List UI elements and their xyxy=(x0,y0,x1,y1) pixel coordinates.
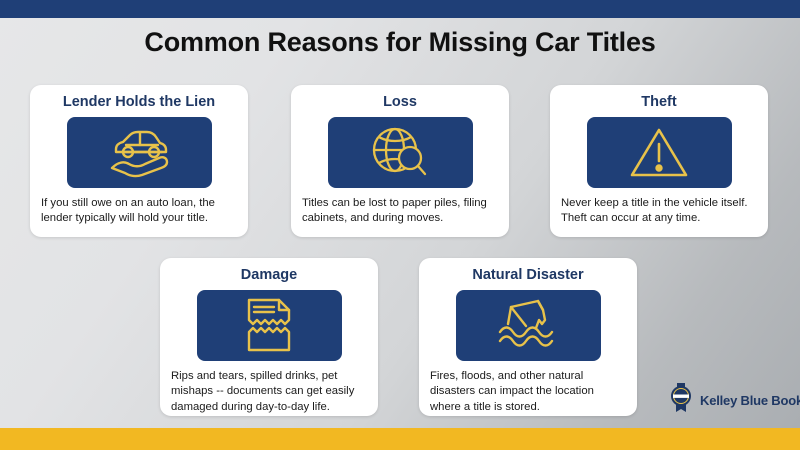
bottom-accent-bar xyxy=(0,428,800,450)
page-title: Common Reasons for Missing Car Titles xyxy=(0,27,800,58)
card-loss: Loss Titles can be lost to paper piles, … xyxy=(291,85,509,237)
card-natural-disaster: Natural Disaster Fires, floods, and othe… xyxy=(419,258,637,416)
slide-canvas: Common Reasons for Missing Car Titles Le… xyxy=(0,0,800,450)
card-body: Fires, floods, and other natural disaste… xyxy=(430,369,626,416)
car-in-hand-icon xyxy=(106,125,172,179)
card-body: Titles can be lost to paper piles, filin… xyxy=(302,196,498,227)
kbb-seal-icon xyxy=(668,383,694,418)
card-damage: Damage Rips and tears, spilled drinks, p… xyxy=(160,258,378,416)
card-title: Damage xyxy=(241,267,297,284)
logo-text: Kelley Blue Book xyxy=(700,393,800,408)
card-title: Natural Disaster xyxy=(472,267,583,284)
card-theft: Theft Never keep a title in the vehicle … xyxy=(550,85,768,237)
flooded-house-icon xyxy=(495,298,561,352)
card-title: Loss xyxy=(383,94,417,111)
torn-document-icon xyxy=(243,296,295,354)
card-body: Rips and tears, spilled drinks, pet mish… xyxy=(171,369,367,416)
card-lender-holds-the-lien: Lender Holds the Lien If you still owe o… xyxy=(30,85,248,237)
top-accent-bar xyxy=(0,0,800,18)
card-title: Lender Holds the Lien xyxy=(63,94,215,111)
icon-panel xyxy=(67,117,212,188)
warning-triangle-icon xyxy=(628,125,690,180)
card-body: If you still owe on an auto loan, the le… xyxy=(41,196,237,227)
globe-magnifier-icon xyxy=(370,124,430,180)
card-body: Never keep a title in the vehicle itself… xyxy=(561,196,757,227)
icon-panel xyxy=(328,117,473,188)
icon-panel xyxy=(456,290,601,361)
icon-panel xyxy=(197,290,342,361)
icon-panel xyxy=(587,117,732,188)
card-title: Theft xyxy=(641,94,676,111)
kelley-blue-book-logo: Kelley Blue Book xyxy=(668,383,800,418)
